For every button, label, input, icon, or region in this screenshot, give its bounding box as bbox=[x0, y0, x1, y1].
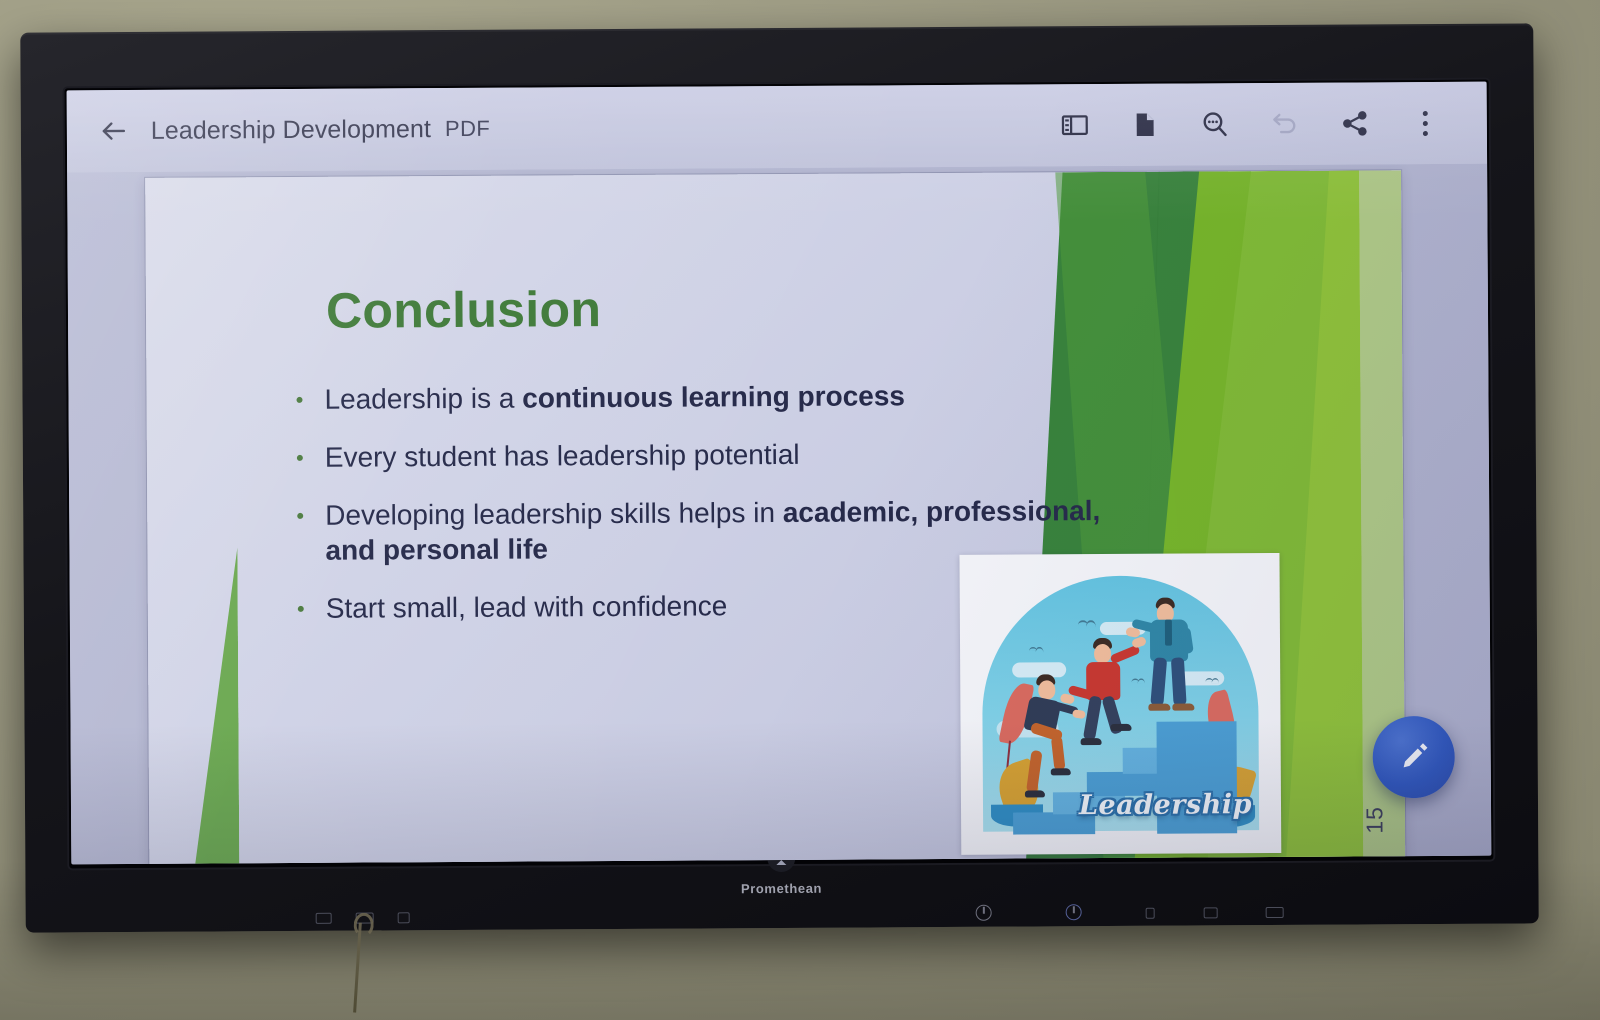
bullet-text: Every student has leadership potential bbox=[325, 437, 800, 476]
document-kind-label: PDF bbox=[445, 116, 490, 142]
bird-icon bbox=[1078, 620, 1088, 625]
edit-pencil-button[interactable] bbox=[1372, 716, 1454, 798]
status-led-icon bbox=[1066, 904, 1082, 920]
undo-icon[interactable] bbox=[1257, 96, 1313, 152]
head-shape bbox=[1094, 644, 1111, 663]
screen: Leadership Development PDF bbox=[67, 82, 1492, 865]
port-icon bbox=[1146, 908, 1155, 919]
thumbnail-panel-icon[interactable] bbox=[1047, 97, 1103, 153]
bird-icon bbox=[1205, 678, 1213, 682]
illustration-caption: Leadership bbox=[1079, 789, 1252, 821]
port-icon bbox=[316, 913, 332, 924]
bird-icon bbox=[1029, 647, 1037, 651]
slide-title: Conclusion bbox=[326, 280, 602, 340]
toolbar-spacer bbox=[490, 125, 1047, 128]
bird-icon bbox=[1131, 678, 1139, 682]
back-icon[interactable] bbox=[93, 110, 135, 152]
shoe-shape bbox=[1051, 768, 1071, 775]
page-view-icon[interactable] bbox=[1117, 97, 1173, 153]
pdf-page: Conclusion Leadership is a continuous le… bbox=[145, 170, 1405, 864]
leadership-illustration: Leadership bbox=[959, 553, 1281, 855]
share-icon[interactable] bbox=[1327, 95, 1383, 151]
head-shape bbox=[1038, 680, 1055, 699]
shoe-shape bbox=[1081, 738, 1102, 745]
pdf-viewer[interactable]: Conclusion Leadership is a continuous le… bbox=[67, 164, 1491, 865]
bullet-text: Leadership is a continuous learning proc… bbox=[324, 378, 905, 417]
power-button-icon[interactable] bbox=[976, 905, 992, 921]
search-icon[interactable] bbox=[1187, 96, 1243, 152]
port-icon bbox=[398, 912, 410, 923]
list-item: Every student has leadership potential bbox=[297, 435, 1117, 476]
port-icon bbox=[1266, 907, 1284, 918]
shoe-shape bbox=[1111, 724, 1132, 731]
bullet-dot-icon bbox=[297, 455, 303, 461]
bullet-dot-icon bbox=[296, 397, 302, 403]
bullet-dot-icon bbox=[298, 606, 304, 612]
bullet-dot-icon bbox=[297, 513, 303, 519]
bullet-text: Start small, lead with confidence bbox=[326, 589, 728, 627]
app-toolbar: Leadership Development PDF bbox=[67, 82, 1487, 173]
list-item: Leadership is a continuous learning proc… bbox=[296, 377, 1116, 418]
shoe-shape bbox=[1025, 790, 1045, 797]
document-title: Leadership Development bbox=[151, 115, 431, 146]
page-number: 15 bbox=[1361, 806, 1388, 834]
tie-shape bbox=[1165, 620, 1172, 646]
leg-shape bbox=[1171, 657, 1187, 706]
left-green-accent bbox=[191, 547, 239, 864]
brand-label: Promethean bbox=[741, 880, 822, 895]
overflow-dots bbox=[1422, 111, 1427, 136]
port-icon bbox=[1204, 907, 1218, 918]
shoe-shape bbox=[1148, 704, 1170, 711]
promethean-display: Leadership Development PDF bbox=[20, 23, 1538, 932]
shoe-shape bbox=[1172, 703, 1194, 710]
overflow-menu-icon[interactable] bbox=[1397, 95, 1453, 151]
